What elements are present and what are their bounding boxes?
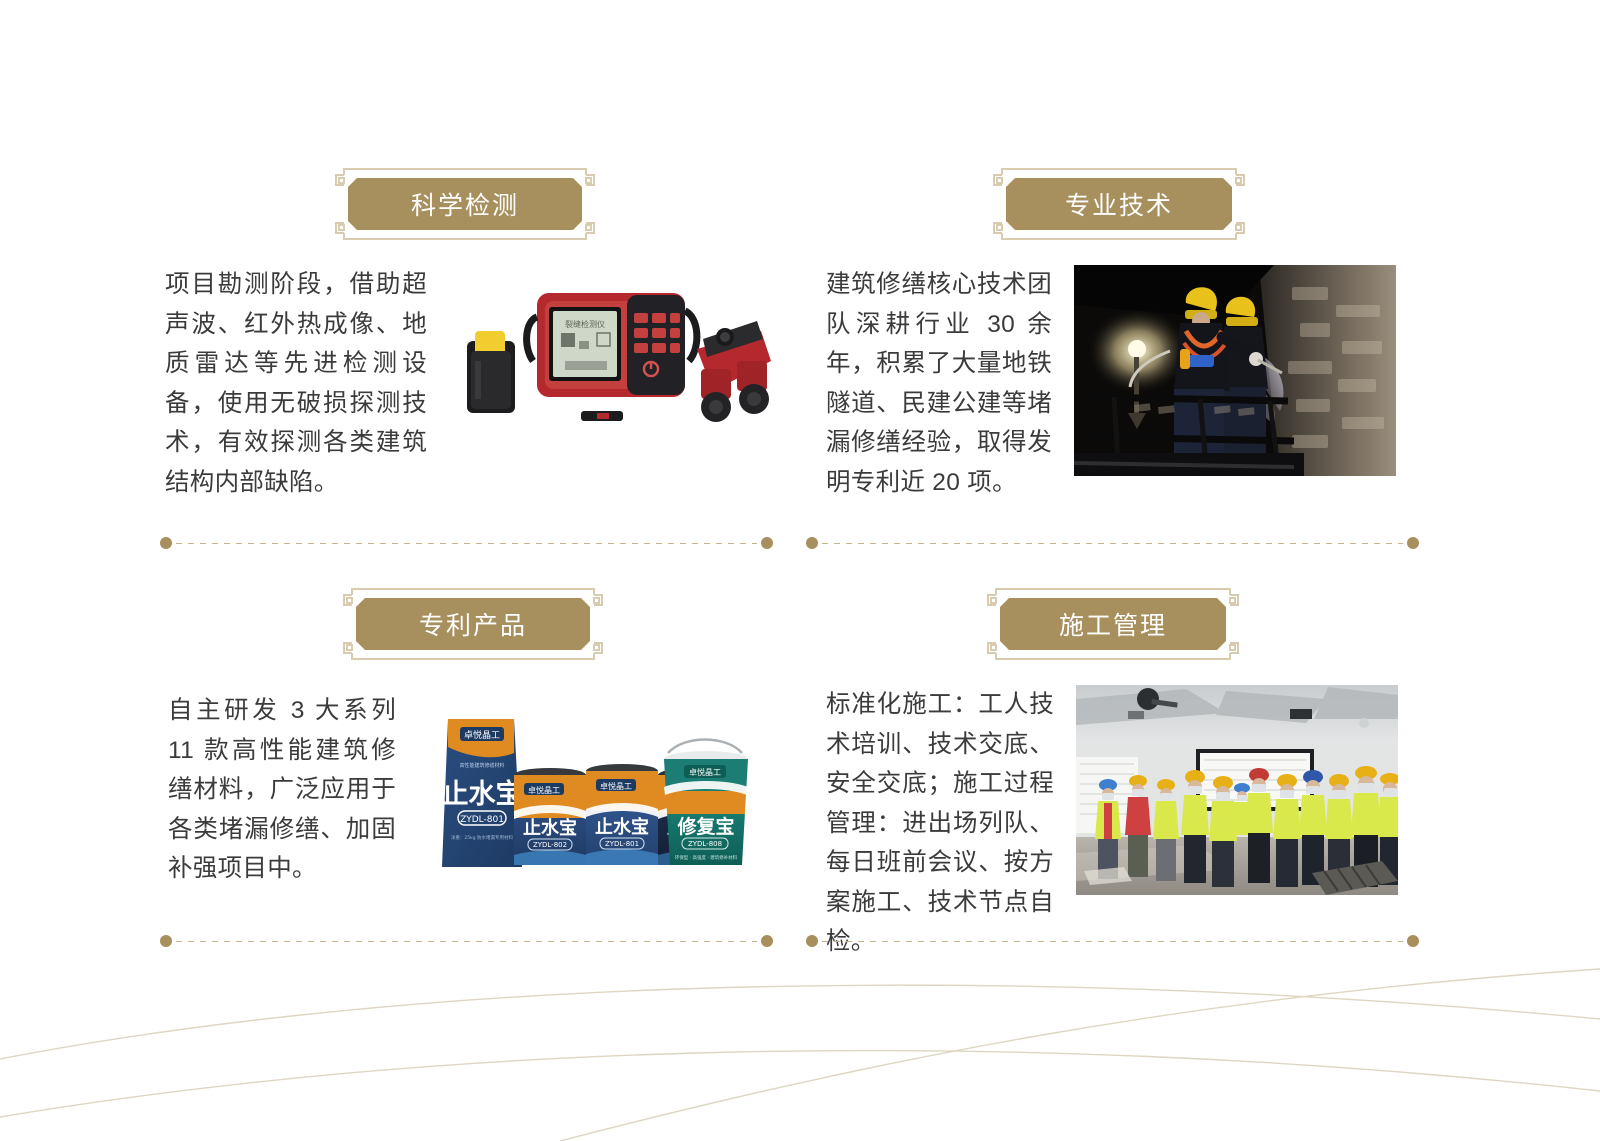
tunnel-work-photo <box>1074 265 1396 476</box>
divider-dot-end <box>761 935 773 947</box>
divider-dot-end <box>761 537 773 549</box>
divider-dot-start <box>806 537 818 549</box>
product-lineup-icon: 卓悦晶工 高性能建筑修缮材料 止水宝 ZYDL-801 净重：25kg 防水堵漏… <box>410 691 750 871</box>
svg-text:卓悦晶工: 卓悦晶工 <box>528 785 560 795</box>
svg-text:ZYDL-801: ZYDL-801 <box>605 840 639 848</box>
divider-right-bottom <box>806 935 1419 947</box>
divider-dash-line <box>176 543 757 544</box>
paragraph-professional-technology: 建筑修缮核心技术团队深耕行业 30 余年，积累了大量地铁隧道、民建公建等堵漏修缮… <box>826 265 1052 502</box>
svg-text:止水宝: 止水宝 <box>595 816 649 838</box>
svg-text:环保型 · 高强度 · 建筑修补材料: 环保型 · 高强度 · 建筑修补材料 <box>675 854 738 861</box>
block-scientific-detection: 科学检测 项目勘测阶段，借助超声波、红外热成像、地质雷达等先进检测设备，使用无破… <box>160 165 780 502</box>
media-products-illustration: 卓悦晶工 高性能建筑修缮材料 止水宝 ZYDL-801 净重：25kg 防水堵漏… <box>410 691 750 871</box>
svg-text:裂缝检测仪: 裂缝检测仪 <box>565 319 605 329</box>
svg-text:高性能建筑修缮材料: 高性能建筑修缮材料 <box>459 762 504 769</box>
divider-dot-end <box>1407 935 1419 947</box>
divider-dot-start <box>160 537 172 549</box>
divider-dot-start <box>160 935 172 947</box>
block-construction-management: 施工管理 标准化施工：工人技术培训、技术交底、安全交底；施工过程管理：进出场列队… <box>820 585 1420 962</box>
detector-device-icon: 裂缝检测仪 <box>445 265 775 465</box>
badge-patented-products: 专利产品 <box>338 585 608 663</box>
poster-page: 科学检测 项目勘测阶段，借助超声波、红外热成像、地质雷达等先进检测设备，使用无破… <box>0 0 1600 1141</box>
badge-label: 施工管理 <box>1000 598 1226 650</box>
badge-scientific-detection: 科学检测 <box>330 165 600 243</box>
block-professional-technology: 专业技术 建筑修缮核心技术团队深耕行业 30 余年，积累了大量地铁隧道、民建公建… <box>820 165 1420 502</box>
badge-professional-technology: 专业技术 <box>988 165 1250 243</box>
divider-dash-line <box>822 941 1403 942</box>
svg-text:卓悦晶工: 卓悦晶工 <box>600 781 632 791</box>
svg-text:止水宝: 止水宝 <box>523 817 577 839</box>
divider-right-top <box>806 537 1419 549</box>
svg-text:ZYDL-802: ZYDL-802 <box>533 841 567 849</box>
paragraph-scientific-detection: 项目勘测阶段，借助超声波、红外热成像、地质雷达等先进检测设备，使用无破损探测技术… <box>165 265 427 502</box>
svg-text:止水宝: 止水宝 <box>442 778 523 810</box>
divider-dash-line <box>822 543 1403 544</box>
badge-label: 专业技术 <box>1006 178 1232 230</box>
svg-text:修复宝: 修复宝 <box>676 815 734 838</box>
svg-text:卓悦晶工: 卓悦晶工 <box>689 767 721 777</box>
badge-label: 专利产品 <box>356 598 590 650</box>
block-patented-products: 专利产品 自主研发 3 大系列 11 款高性能建筑修缮材料，广泛应用于各类堵漏修… <box>160 585 780 889</box>
divider-dot-start <box>806 935 818 947</box>
media-team-photo <box>1076 685 1398 895</box>
svg-text:卓悦晶工: 卓悦晶工 <box>464 729 500 741</box>
badge-construction-management: 施工管理 <box>982 585 1244 663</box>
media-detector-illustration: 裂缝检测仪 <box>445 265 775 465</box>
media-tunnel-photo <box>1074 265 1396 476</box>
svg-text:净重：25kg 防水堵漏专用材料: 净重：25kg 防水堵漏专用材料 <box>451 834 514 841</box>
divider-dot-end <box>1407 537 1419 549</box>
paragraph-patented-products: 自主研发 3 大系列 11 款高性能建筑修缮材料，广泛应用于各类堵漏修缮、加固补… <box>168 691 396 889</box>
divider-left-top <box>160 537 773 549</box>
divider-dash-line <box>176 941 757 942</box>
team-lineup-photo <box>1076 685 1398 895</box>
svg-text:ZYDL-808: ZYDL-808 <box>688 840 722 848</box>
bottom-decorative-curves <box>0 941 1600 1141</box>
divider-left-bottom <box>160 935 773 947</box>
svg-text:ZYDL-801: ZYDL-801 <box>460 815 504 825</box>
badge-label: 科学检测 <box>348 178 582 230</box>
paragraph-construction-management: 标准化施工：工人技术培训、技术交底、安全交底；施工过程管理：进出场列队、每日班前… <box>826 685 1054 962</box>
